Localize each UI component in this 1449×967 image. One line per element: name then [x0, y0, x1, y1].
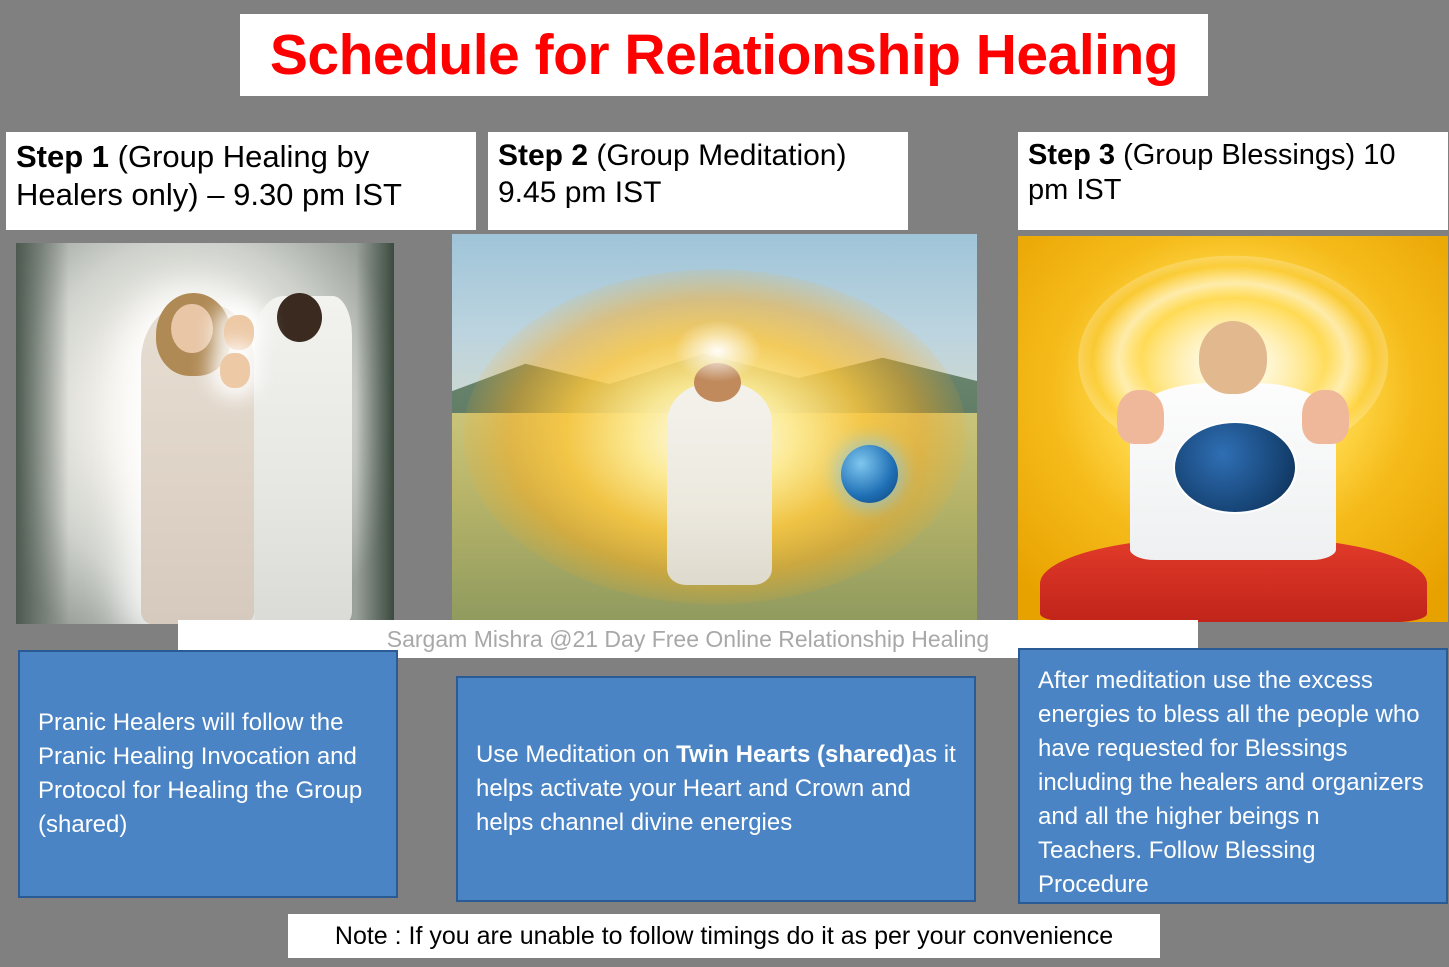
- step-1-healer-head: [277, 293, 322, 343]
- step-1-description-text: Pranic Healers will follow the Pranic He…: [38, 706, 378, 842]
- step-3-master-left-hand: [1117, 390, 1164, 444]
- step-1-image-right-shadow: [356, 243, 394, 624]
- step-1-description-prefix: Pranic Healers will follow the Pranic He…: [38, 709, 362, 838]
- note-text: Note : If you are unable to follow timin…: [335, 922, 1113, 951]
- step-3-globe-graphic: [1173, 421, 1297, 514]
- step-1-heading-label: Step 1: [16, 139, 109, 174]
- step-2-description-box: Use Meditation on Twin Hearts (shared)as…: [456, 676, 976, 902]
- step-1-image-left-shadow: [16, 243, 69, 624]
- step-2-heading: Step 2 (Group Meditation) 9.45 pm IST: [488, 132, 908, 230]
- step-1-heading: Step 1 (Group Healing by Healers only) –…: [6, 132, 476, 230]
- step-1-healer-hand-lower: [220, 353, 250, 387]
- step-2-earth-sphere: [841, 445, 899, 504]
- step-2-description-emphasis: Twin Hearts (shared): [676, 741, 912, 768]
- step-1-healer-hand-upper: [224, 315, 254, 349]
- step-3-description-box: After meditation use the excess energies…: [1018, 648, 1448, 904]
- page-title-box: Schedule for Relationship Healing: [240, 14, 1208, 96]
- step-3-master-right-hand: [1302, 390, 1349, 444]
- step-2-meditator-body: [667, 382, 772, 585]
- step-1-woman-face: [171, 304, 213, 354]
- step-2-description-prefix: Use Meditation on: [476, 741, 676, 768]
- page-title: Schedule for Relationship Healing: [270, 22, 1178, 88]
- step-3-description-text: After meditation use the excess energies…: [1038, 664, 1428, 903]
- step-2-crown-light: [673, 320, 762, 382]
- step-2-heading-label: Step 2: [498, 139, 588, 172]
- watermark-text: Sargam Mishra @21 Day Free Online Relati…: [387, 626, 989, 653]
- step-3-heading: Step 3 (Group Blessings) 10 pm IST: [1018, 132, 1448, 230]
- step-3-description-prefix: After meditation use the excess energies…: [1038, 667, 1424, 898]
- step-1-image: [16, 243, 394, 624]
- step-2-description-text: Use Meditation on Twin Hearts (shared)as…: [476, 738, 956, 840]
- step-2-image: [452, 234, 977, 624]
- note-bar: Note : If you are unable to follow timin…: [288, 914, 1160, 958]
- step-1-description-box: Pranic Healers will follow the Pranic He…: [18, 650, 398, 898]
- step-3-heading-label: Step 3: [1028, 139, 1115, 171]
- step-3-image: [1018, 236, 1448, 622]
- step-3-master-head: [1199, 321, 1268, 394]
- step-1-healer-figure: [254, 296, 352, 624]
